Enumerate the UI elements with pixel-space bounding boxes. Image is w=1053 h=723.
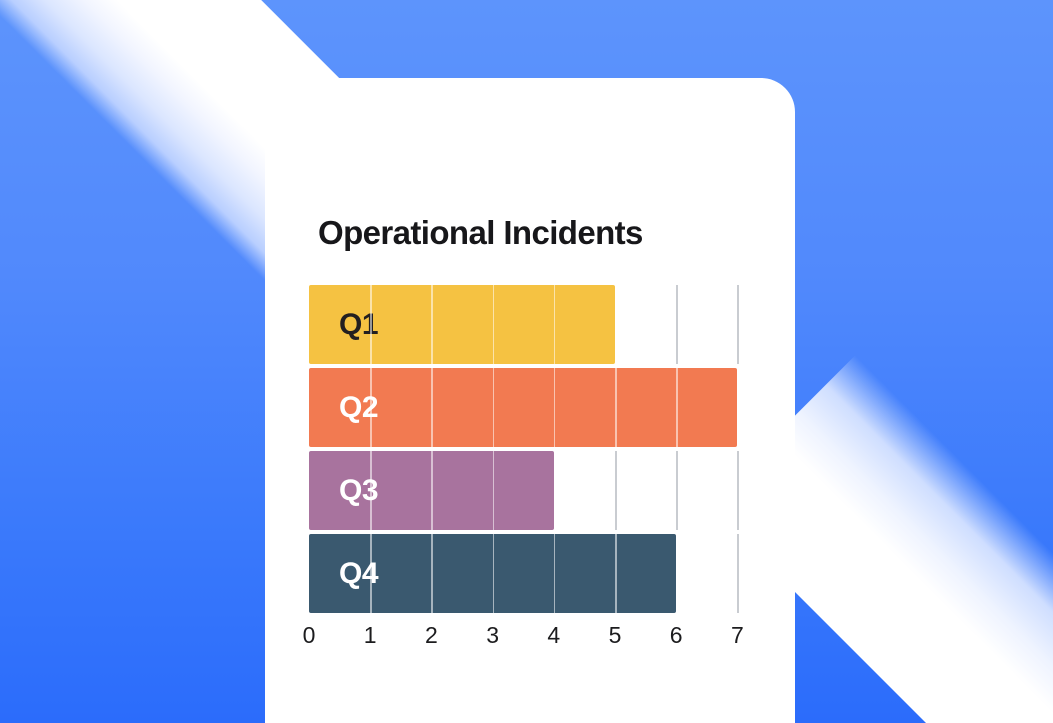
x-tick-label: 1 [364, 624, 377, 647]
x-tick-label: 3 [486, 624, 499, 647]
x-tick-label: 5 [609, 624, 622, 647]
x-tick-label: 6 [670, 624, 683, 647]
bar-q1: Q1 [309, 285, 615, 364]
x-tick-label: 7 [731, 624, 744, 647]
bar-label: Q2 [339, 393, 378, 423]
screenshot-root: Operational Incidents Q1Q2Q3Q4 01234567 [0, 0, 1053, 723]
bar-label: Q1 [339, 310, 378, 340]
chart-card: Operational Incidents Q1Q2Q3Q4 01234567 [265, 78, 795, 723]
x-tick-label: 4 [547, 624, 560, 647]
bar-label: Q4 [339, 559, 378, 589]
x-axis-ticks: 01234567 [309, 624, 737, 658]
bar-fill: Q2 [309, 368, 737, 447]
x-tick-label: 2 [425, 624, 438, 647]
bar-q3: Q3 [309, 451, 554, 530]
chart-plot-area: Q1Q2Q3Q4 [309, 285, 737, 617]
gridline [737, 285, 739, 364]
page-title: Operational Incidents [318, 214, 643, 252]
gridline [737, 451, 739, 530]
x-tick-label: 0 [303, 624, 316, 647]
gridline [737, 534, 739, 613]
bar-q2: Q2 [309, 368, 737, 447]
bar-fill: Q1 [309, 285, 615, 364]
gridline [737, 368, 739, 447]
bar-q4: Q4 [309, 534, 676, 613]
bar-fill: Q3 [309, 451, 554, 530]
bar-label: Q3 [339, 476, 378, 506]
bar-series: Q1Q2Q3Q4 [309, 285, 737, 617]
bar-fill: Q4 [309, 534, 676, 613]
